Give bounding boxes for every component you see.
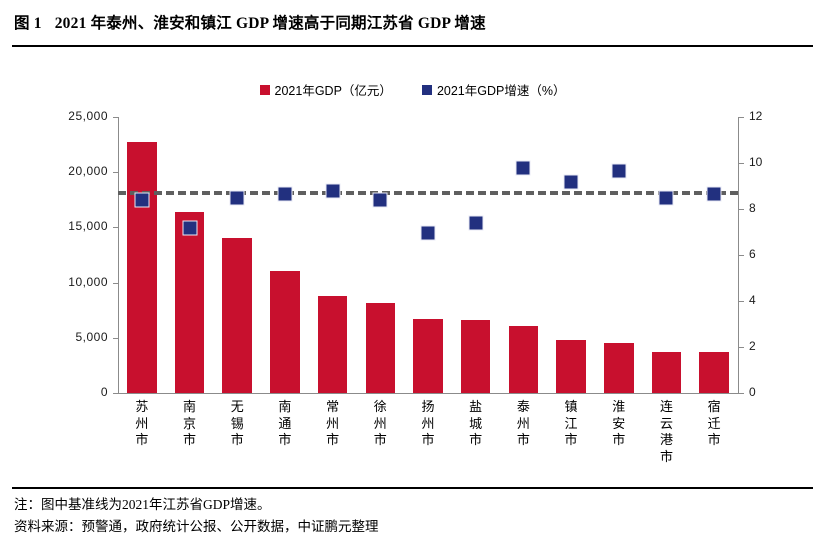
benchmark-line — [118, 191, 738, 195]
growth-marker-扬州市 — [421, 225, 436, 240]
x-axis-label-淮安市: 淮 安 市 — [609, 399, 629, 449]
footnote-source: 资料来源：预警通，政府统计公报、公开数据，中证鹏元整理 — [14, 516, 814, 538]
x-axis-label-连云港市: 连 云 港 市 — [656, 399, 676, 465]
x-axis-label-南通市: 南 通 市 — [275, 399, 295, 449]
x-axis-label-常州市: 常 州 市 — [323, 399, 343, 449]
y-tick-label-right: 10 — [749, 155, 789, 169]
bar-淮安市 — [604, 343, 634, 393]
growth-marker-苏州市 — [134, 193, 149, 208]
y-tick-label-left: 25,000 — [38, 109, 108, 123]
bar-苏州市 — [127, 142, 157, 393]
bar-扬州市 — [413, 319, 443, 393]
y-tick-label-left: 0 — [38, 385, 108, 399]
y-tick-right — [739, 255, 744, 256]
bar-镇江市 — [556, 340, 586, 393]
x-axis-label-宿迁市: 宿 迁 市 — [704, 399, 724, 449]
x-axis-line — [118, 393, 739, 394]
bar-宿迁市 — [699, 352, 729, 393]
bar-南京市 — [175, 212, 205, 393]
x-axis-label-扬州市: 扬 州 市 — [418, 399, 438, 449]
plot-area — [118, 117, 738, 393]
growth-marker-无锡市 — [230, 191, 245, 206]
y-tick-right — [739, 393, 744, 394]
y-tick-label-left: 10,000 — [38, 275, 108, 289]
y-tick-label-left: 5,000 — [38, 330, 108, 344]
y-tick-right — [739, 117, 744, 118]
bar-无锡市 — [222, 238, 252, 393]
bar-泰州市 — [509, 326, 539, 393]
x-axis-label-无锡市: 无 锡 市 — [227, 399, 247, 449]
growth-marker-宿迁市 — [707, 186, 722, 201]
bar-常州市 — [318, 296, 348, 393]
growth-marker-泰州市 — [516, 161, 531, 176]
x-axis-label-徐州市: 徐 州 市 — [370, 399, 390, 449]
bar-徐州市 — [366, 303, 396, 393]
x-axis-labels: 苏 州 市南 京 市无 锡 市南 通 市常 州 市徐 州 市扬 州 市盐 城 市… — [118, 399, 738, 489]
y-tick-label-left: 20,000 — [38, 164, 108, 178]
growth-marker-镇江市 — [564, 175, 579, 190]
x-axis-label-泰州市: 泰 州 市 — [513, 399, 533, 449]
y-tick-right — [739, 301, 744, 302]
growth-marker-常州市 — [325, 184, 340, 199]
footnotes: 注：图中基准线为2021年江苏省GDP增速。 资料来源：预警通，政府统计公报、公… — [14, 494, 814, 538]
growth-marker-连云港市 — [659, 191, 674, 206]
growth-marker-徐州市 — [373, 193, 388, 208]
chart-canvas: 05,00010,00015,00020,00025,000 024681012… — [0, 0, 825, 550]
bar-连云港市 — [652, 352, 682, 393]
y-tick-right — [739, 209, 744, 210]
x-axis-label-南京市: 南 京 市 — [180, 399, 200, 449]
bar-盐城市 — [461, 320, 491, 393]
y-tick-label-right: 6 — [749, 247, 789, 261]
growth-marker-南京市 — [182, 221, 197, 236]
x-axis-label-盐城市: 盐 城 市 — [466, 399, 486, 449]
growth-marker-南通市 — [277, 186, 292, 201]
y-tick-left — [113, 393, 118, 394]
bar-南通市 — [270, 271, 300, 393]
y-tick-label-right: 8 — [749, 201, 789, 215]
y-tick-label-right: 4 — [749, 293, 789, 307]
y-tick-right — [739, 347, 744, 348]
y-tick-label-left: 15,000 — [38, 219, 108, 233]
footer-divider — [12, 487, 813, 489]
y-tick-label-right: 12 — [749, 109, 789, 123]
growth-marker-盐城市 — [468, 216, 483, 231]
y-tick-right — [739, 163, 744, 164]
y-tick-label-right: 0 — [749, 385, 789, 399]
x-axis-label-苏州市: 苏 州 市 — [132, 399, 152, 449]
growth-marker-淮安市 — [611, 163, 626, 178]
y-tick-label-right: 2 — [749, 339, 789, 353]
footnote-note: 注：图中基准线为2021年江苏省GDP增速。 — [14, 494, 814, 516]
x-axis-label-镇江市: 镇 江 市 — [561, 399, 581, 449]
